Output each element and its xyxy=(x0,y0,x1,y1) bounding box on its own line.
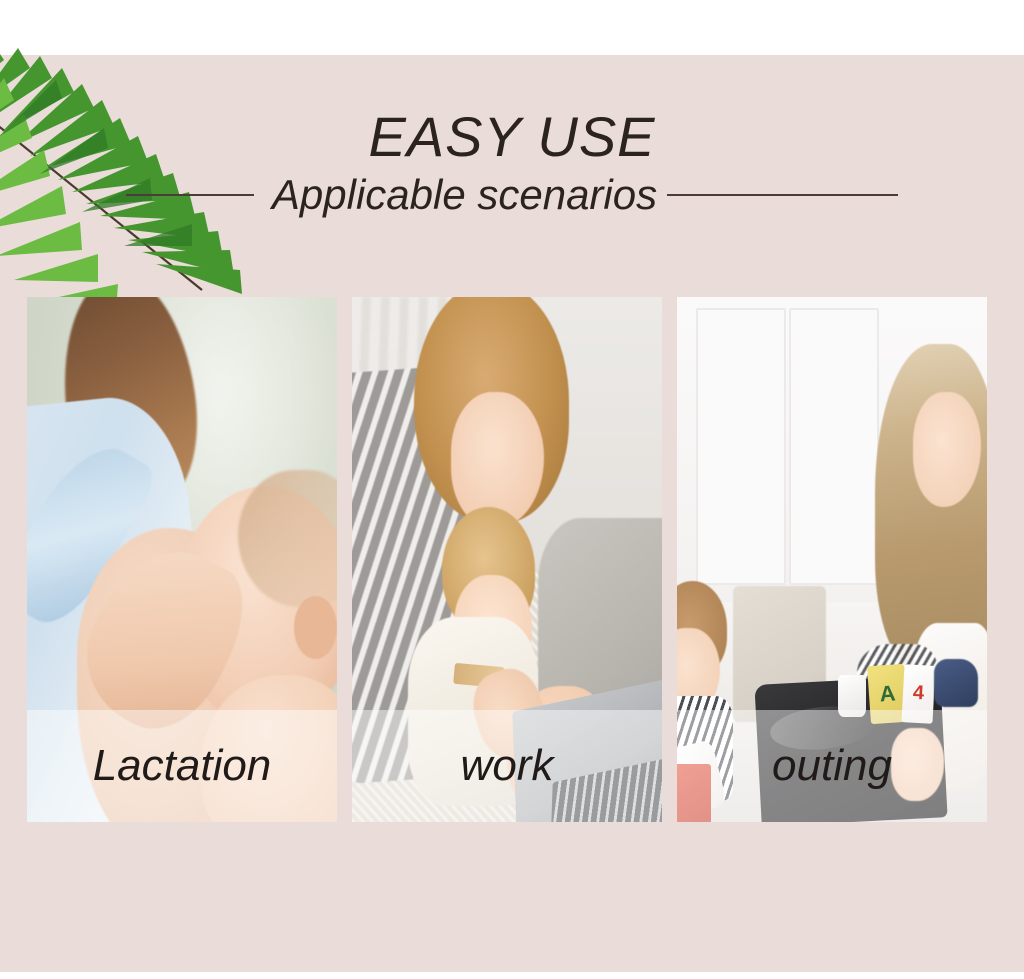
heading-block: EASY USE Applicable scenarios xyxy=(0,108,1024,217)
caption-band-work: work xyxy=(352,710,662,822)
page-title: EASY USE xyxy=(0,108,1024,167)
promo-banner: EASY USE Applicable scenarios xyxy=(0,0,1024,979)
rule-right xyxy=(667,194,898,196)
page-subtitle: Applicable scenarios xyxy=(272,173,657,217)
caption-band-outing: outing xyxy=(677,710,987,822)
scenario-panel-group: Lactation wor xyxy=(27,297,985,822)
scenario-caption-lactation: Lactation xyxy=(93,744,272,788)
rule-left xyxy=(126,194,254,196)
scenario-panel-outing[interactable]: A 4 outing xyxy=(677,297,987,822)
scenario-panel-lactation[interactable]: Lactation xyxy=(27,297,337,822)
subtitle-row: Applicable scenarios xyxy=(0,173,1024,217)
caption-band-lactation: Lactation xyxy=(27,710,337,822)
scenario-caption-outing: outing xyxy=(772,744,892,788)
scenario-caption-work: work xyxy=(461,744,554,788)
scenario-panel-work[interactable]: work xyxy=(352,297,662,822)
